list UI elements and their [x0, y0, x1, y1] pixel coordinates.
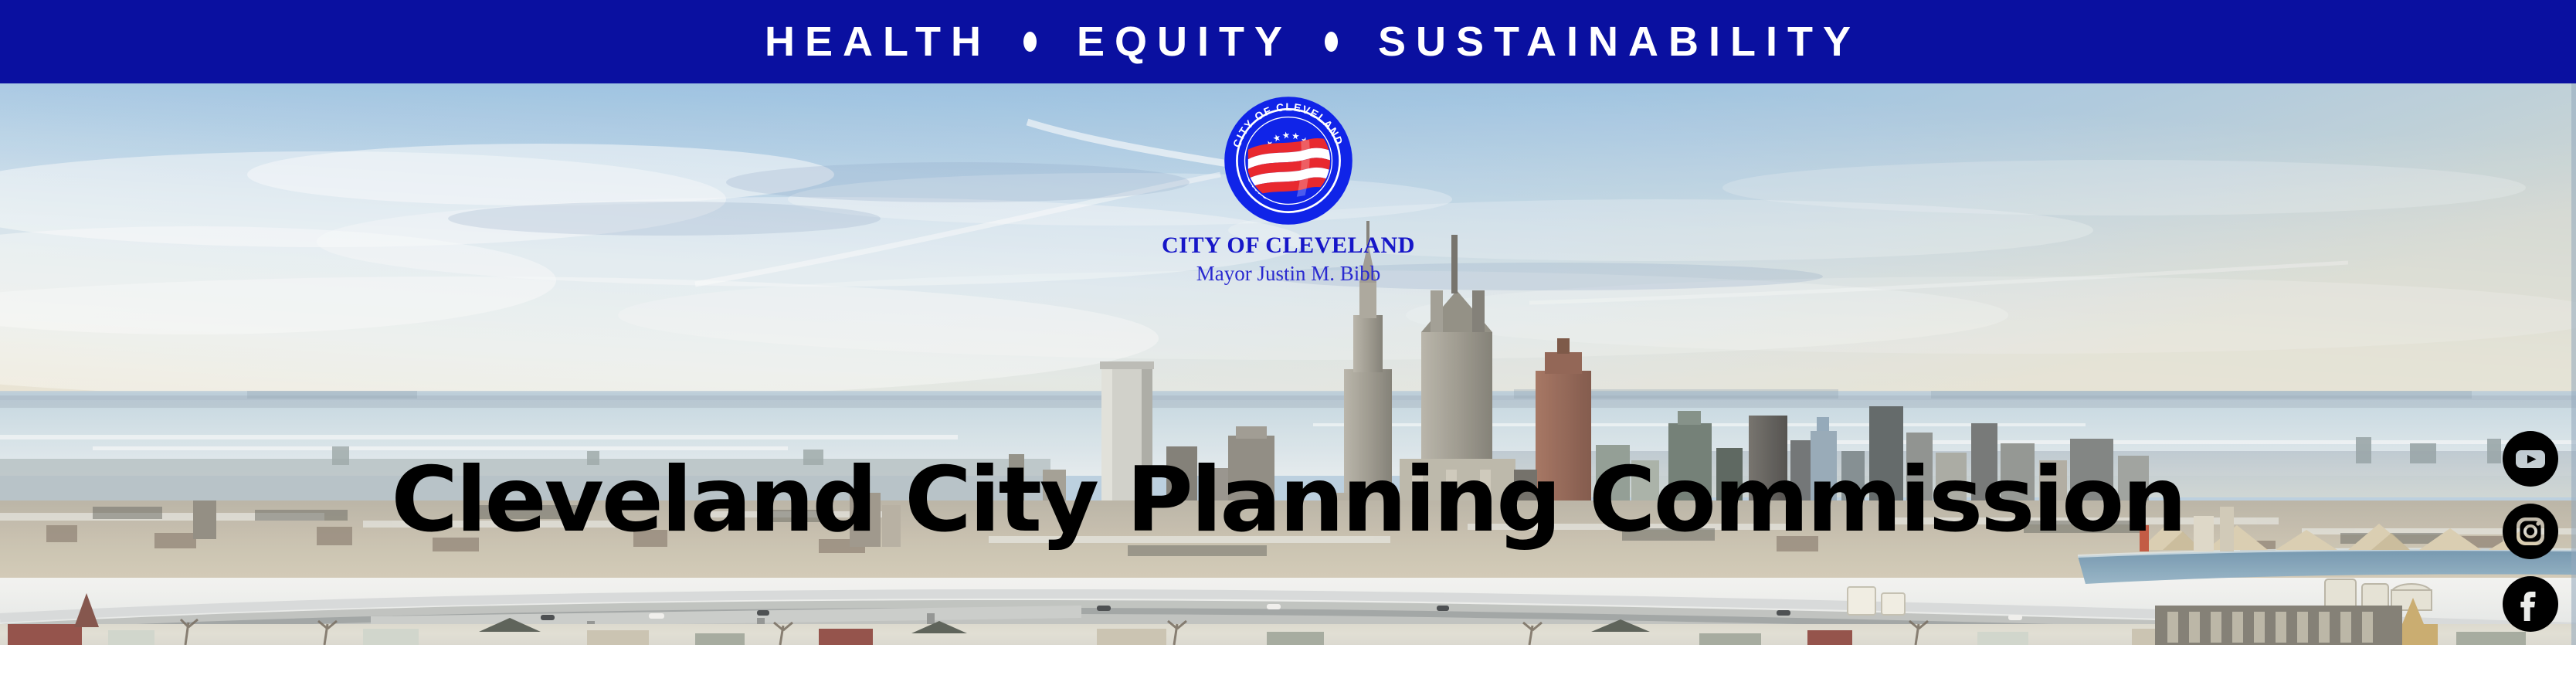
tagline-word-health: HEALTH [765, 21, 991, 63]
tagline-inner: HEALTH EQUITY SUSTAINABILITY [765, 21, 1861, 63]
social-links-rail: YouTube Instagram [2503, 431, 2561, 649]
tagline-word-sustainability: SUSTAINABILITY [1378, 21, 1861, 63]
tagline-word-equity: EQUITY [1077, 21, 1292, 63]
logo-mayor-line: Mayor Justin M. Bibb [1161, 263, 1416, 284]
city-of-cleveland-seal-icon: CITY OF CLEVELAND OHIO [1161, 91, 1416, 230]
social-link-youtube[interactable]: YouTube [2503, 431, 2558, 487]
bullet-dot-icon [1023, 32, 1037, 52]
tagline-bar: HEALTH EQUITY SUSTAINABILITY [0, 0, 2576, 83]
photo-edge-strip [2571, 83, 2576, 645]
cleveland-city-planning-commission-header: HEALTH EQUITY SUSTAINABILITY [0, 0, 2576, 682]
social-link-instagram[interactable]: Instagram [2503, 504, 2558, 559]
logo-org-name: CITY OF CLEVELAND [1161, 233, 1416, 258]
city-of-cleveland-logo: CITY OF CLEVELAND OHIO [1161, 91, 1416, 284]
social-link-facebook[interactable]: Facebook [2503, 576, 2558, 632]
bullet-dot-icon [1325, 32, 1338, 52]
